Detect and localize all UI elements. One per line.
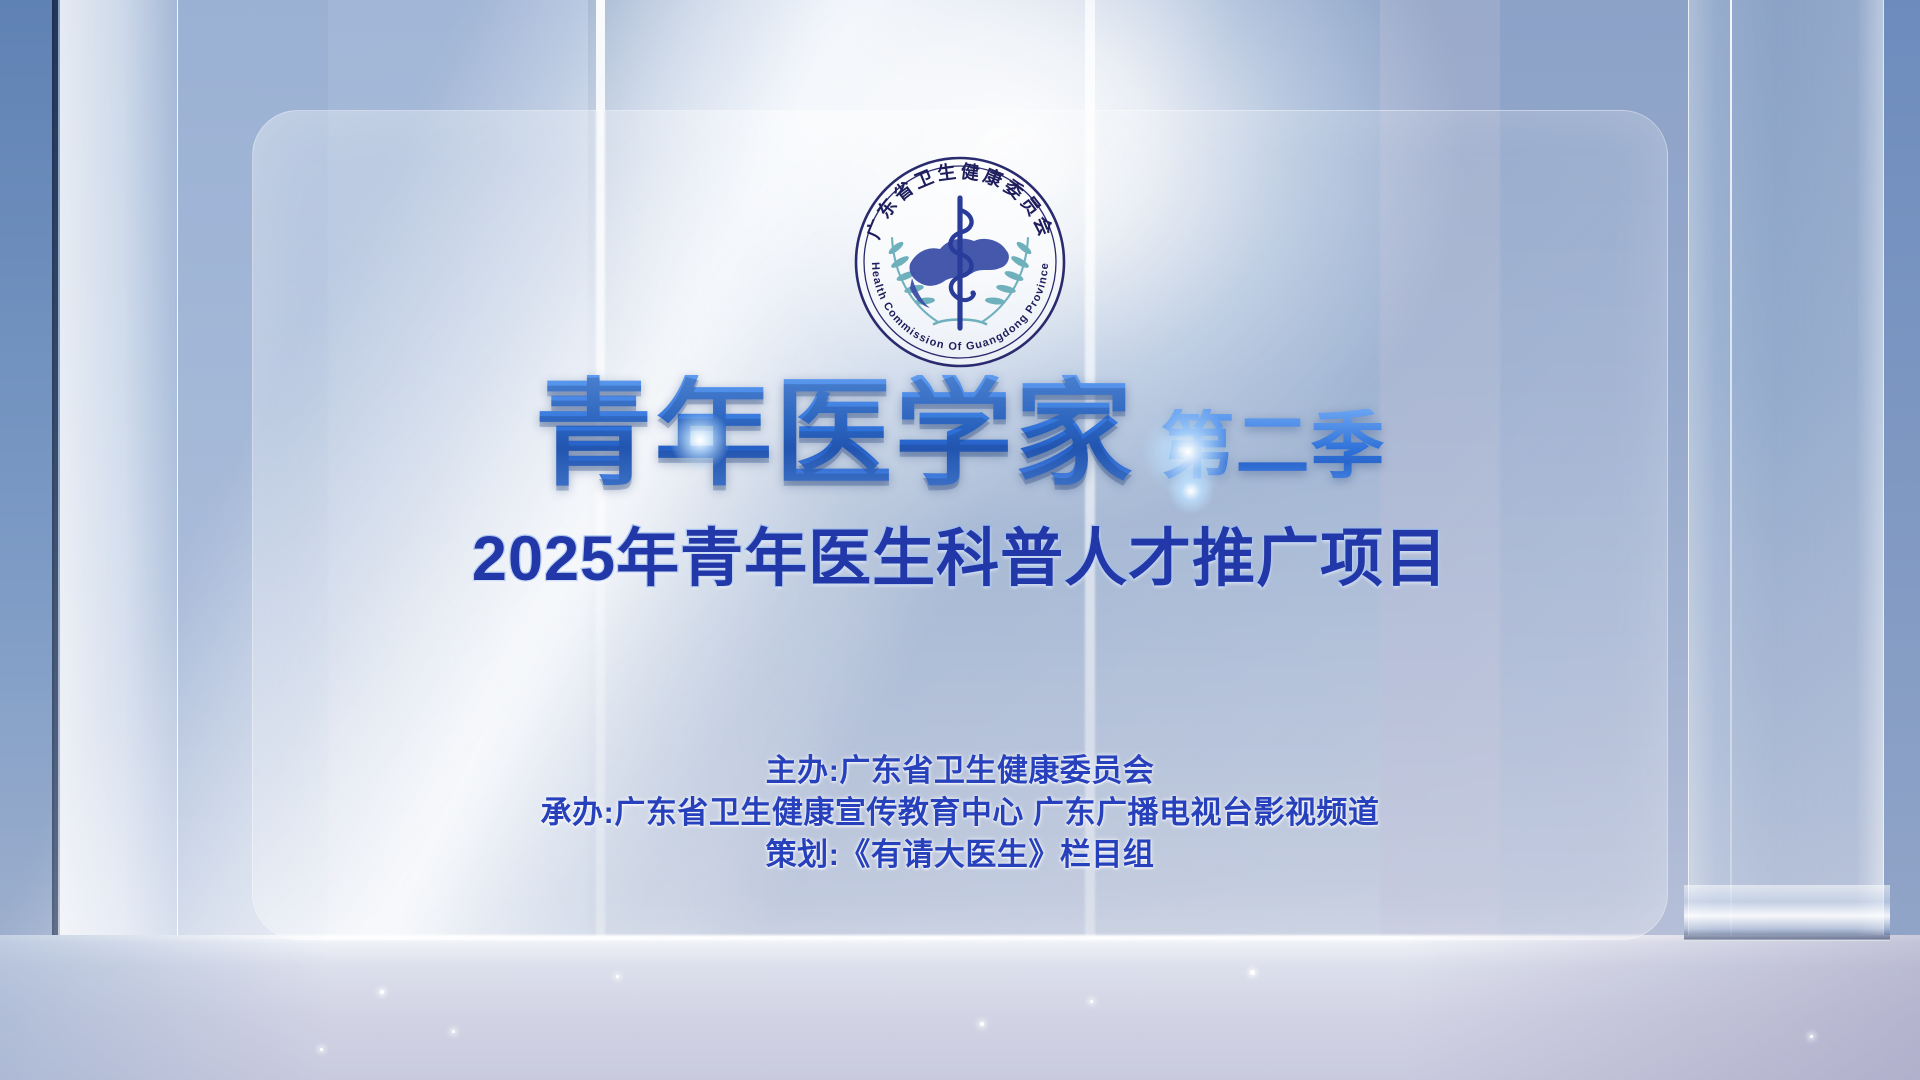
credits-block: 主办:广东省卫生健康委员会 承办:广东省卫生健康宣传教育中心 广东广播电视台影视…: [252, 750, 1668, 876]
pillar-highlight-edge: [1730, 0, 1732, 940]
sparkle-particle: [616, 975, 619, 978]
sparkle-particle: [452, 1030, 455, 1033]
poster-content: 广东省卫生健康委员会 Health Commission Of Guangdon…: [252, 110, 1668, 940]
pillar-base: [1684, 885, 1890, 941]
sparkle-particle: [1810, 1035, 1813, 1038]
health-commission-logo: 广东省卫生健康委员会 Health Commission Of Guangdon…: [850, 152, 1070, 372]
season-label: 第二季: [1161, 409, 1386, 493]
credit-line-planner: 策划:《有请大医生》栏目组: [252, 834, 1668, 876]
credit-line-organizer: 主办:广东省卫生健康委员会: [252, 750, 1668, 792]
left-glass-strip: [60, 0, 178, 935]
sparkle-particle: [320, 1048, 323, 1051]
left-dark-edge: [52, 0, 58, 935]
sparkle-particle: [1250, 970, 1255, 975]
right-glass-pillar: [1688, 0, 1884, 960]
sparkle-particle: [380, 990, 384, 994]
band-1: [0, 0, 54, 1080]
floor-tint-right: [1400, 935, 1920, 1080]
sparkle-particle: [980, 1022, 984, 1026]
subtitle: 2025年青年医生科普人才推广项目: [252, 528, 1668, 591]
credit-line-coorganizer: 承办:广东省卫生健康宣传教育中心 广东广播电视台影视频道: [252, 792, 1668, 834]
poster-stage: 广东省卫生健康委员会 Health Commission Of Guangdon…: [0, 0, 1920, 1080]
floor-tint-left: [0, 935, 330, 1080]
sparkle-particle: [1090, 1000, 1093, 1003]
emblem-icon: 广东省卫生健康委员会 Health Commission Of Guangdon…: [850, 152, 1070, 372]
main-title: 青年医学家: [534, 375, 1134, 493]
title-row: 青年医学家 第二季: [252, 375, 1668, 493]
